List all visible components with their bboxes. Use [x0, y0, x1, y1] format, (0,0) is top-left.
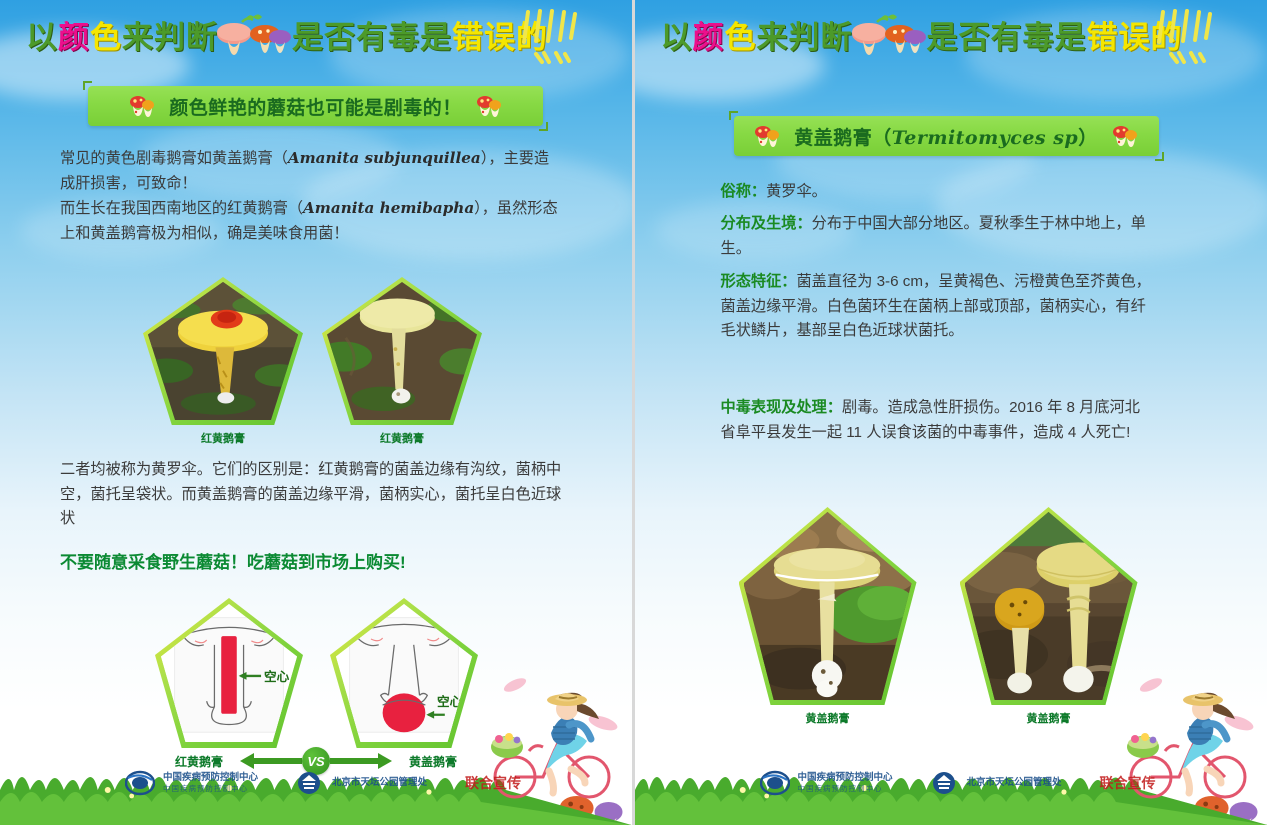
- right-photo-caption-1: 黄盖鹅膏: [739, 710, 917, 726]
- footer-joint-text: 联合宣传: [465, 773, 521, 793]
- photo-frame-red-yellow-2: [322, 277, 482, 425]
- photo-yellow-cap-amanita-1: [744, 512, 912, 700]
- footer-org1: 中国疾病预防控制中心 中国疾病预防控制中心: [163, 772, 258, 793]
- svg-text:空心: 空心: [264, 669, 290, 684]
- left-warning-text: 不要随意采食野生蘑菇！吃蘑菇到市场上购买!: [60, 548, 565, 573]
- footer-right: 中国疾病预防控制中心 中国疾病预防控制中心 北京市天坛公园管理处 联合宣传: [635, 763, 1267, 803]
- china-cdc-logo-icon: [760, 770, 790, 796]
- detail-label-3: 中毒表现及处理：: [721, 399, 843, 416]
- left-banner: 颜色鲜艳的蘑菇也可能是剧毒的！: [88, 86, 543, 126]
- detail-label-0: 俗称：: [721, 183, 767, 200]
- right-banner-sci: Termitomyces sp: [892, 127, 1078, 149]
- detail-label-2: 形态特征：: [721, 273, 797, 290]
- mushroom-icon: [476, 94, 502, 118]
- right-banner-tail: ）: [1078, 128, 1098, 149]
- mushroom-icon: [1112, 124, 1138, 148]
- right-banner-name: 黄盖鹅膏（: [794, 128, 892, 149]
- left-compare-paragraph: 二者均被称为黄罗伞。它们的区别是：红黄鹅膏的菌盖边缘有沟纹，菌柄中空，菌托呈袋状…: [60, 458, 565, 532]
- footer-left: 中国疾病预防控制中心 中国疾病预防控制中心 北京市天坛公园管理处 联合宣传: [0, 763, 632, 803]
- headline-part-2: 是否有毒是错误的: [927, 12, 1183, 57]
- headline-seg-4: 来判断: [122, 20, 218, 56]
- headline-part-1: 以颜色来判断: [661, 12, 853, 57]
- right-banner-text: 黄盖鹅膏（Termitomyces sp）: [794, 123, 1097, 150]
- mushroom-pair-icon: [212, 14, 292, 60]
- detail-label-1: 分布及生境：: [721, 215, 812, 232]
- photo-red-yellow-amanita-1: [148, 282, 298, 420]
- headline-part-2: 是否有毒是错误的: [292, 12, 548, 57]
- mushroom-icon: [129, 94, 155, 118]
- headline-seg-1: 以: [661, 20, 693, 56]
- footer-joint-text: 联合宣传: [1100, 773, 1156, 793]
- photo-frame-yellow-cap-2: [960, 507, 1138, 705]
- svg-text:空心: 空心: [437, 694, 463, 709]
- tiantan-park-logo-icon: [929, 770, 959, 796]
- intro-line1-a: 常见的黄色剧毒鹅膏如黄盖鹅膏（: [60, 150, 288, 167]
- species-name-hemibapha: Amanita hemibapha: [303, 199, 474, 217]
- diagram-solid-stem: 空心: [336, 604, 472, 742]
- headline-seg-3: 色: [90, 20, 122, 56]
- footer-org1-name: 中国疾病预防控制中心: [798, 772, 893, 784]
- species-detail-row-1: 分布及生境：分布于中国大部分地区。夏秋季生于林中地上，单生。: [721, 212, 1155, 261]
- photo-caption-1: 红黄鹅膏: [143, 430, 303, 446]
- right-banner: 黄盖鹅膏（Termitomyces sp）: [734, 116, 1159, 156]
- photo-caption-2: 红黄鹅膏: [322, 430, 482, 446]
- headline-seg-2: 颜: [58, 20, 90, 56]
- intro-line2-a: 而生长在我国西南地区的红黄鹅膏（: [60, 200, 303, 217]
- photo-red-yellow-amanita-2: [327, 282, 477, 420]
- headline-seg-4: 来判断: [757, 20, 853, 56]
- photo-frame-red-yellow-1: [143, 277, 303, 425]
- mushroom-icon: [754, 124, 780, 148]
- footer-org1-sub: 中国疾病预防控制中心: [163, 784, 258, 793]
- headline-seg-5: 是否有毒是: [292, 20, 452, 56]
- species-name-subjunquillea: Amanita subjunquillea: [288, 149, 481, 167]
- photo-yellow-cap-amanita-2: [965, 512, 1133, 700]
- decorative-strokes-icon: [520, 8, 582, 66]
- tiantan-park-logo-icon: [294, 770, 324, 796]
- headline-part-1: 以颜色来判断: [26, 12, 218, 57]
- headline-seg-2: 颜: [693, 20, 725, 56]
- footer-org2: 北京市天坛公园管理处: [332, 777, 427, 789]
- footer-org1: 中国疾病预防控制中心 中国疾病预防控制中心: [798, 772, 893, 793]
- headline-seg-3: 色: [725, 20, 757, 56]
- photo-frame-yellow-cap-1: [739, 507, 917, 705]
- footer-org2: 北京市天坛公园管理处: [967, 777, 1062, 789]
- species-detail-row-0: 俗称：黄罗伞。: [721, 180, 1155, 205]
- poster-headline: 以颜色来判断 是否有毒是错误的: [635, 8, 1267, 70]
- decorative-strokes-icon: [1155, 8, 1217, 66]
- left-intro-paragraph: 常见的黄色剧毒鹅膏如黄盖鹅膏（Amanita subjunquillea），主要…: [60, 146, 560, 247]
- species-detail-row-2: 形态特征：菌盖直径为 3-6 cm，呈黄褐色、污橙黄色至芥黄色，菌盖边缘平滑。白…: [721, 270, 1155, 344]
- headline-seg-1: 以: [26, 20, 58, 56]
- diagram-frame-yellow-cap: 空心: [330, 598, 478, 748]
- diagram-frame-red-yellow: 空心: [155, 598, 303, 748]
- diagram-hollow-stem: 空心: [161, 604, 297, 742]
- detail-text-0: 黄罗伞。: [766, 183, 827, 200]
- footer-org1-sub: 中国疾病预防控制中心: [798, 784, 893, 793]
- right-photo-caption-2: 黄盖鹅膏: [960, 710, 1138, 726]
- left-page: 以颜色来判断 是否有毒是错误的: [0, 0, 632, 825]
- species-detail-row-3: 中毒表现及处理：剧毒。造成急性肝损伤。2016 年 8 月底河北省阜平县发生一起…: [721, 396, 1155, 445]
- china-cdc-logo-icon: [125, 770, 155, 796]
- poster-headline: 以颜色来判断 是否有毒是错误的: [0, 8, 632, 70]
- footer-org1-name: 中国疾病预防控制中心: [163, 772, 258, 784]
- mushroom-pair-icon: [847, 14, 927, 60]
- headline-seg-5: 是否有毒是: [927, 20, 1087, 56]
- poster: 以颜色来判断 是否有毒是错误的: [0, 0, 1267, 825]
- right-page: 以颜色来判断 是否有毒是错误的: [632, 0, 1267, 825]
- left-banner-text: 颜色鲜艳的蘑菇也可能是剧毒的！: [169, 93, 462, 120]
